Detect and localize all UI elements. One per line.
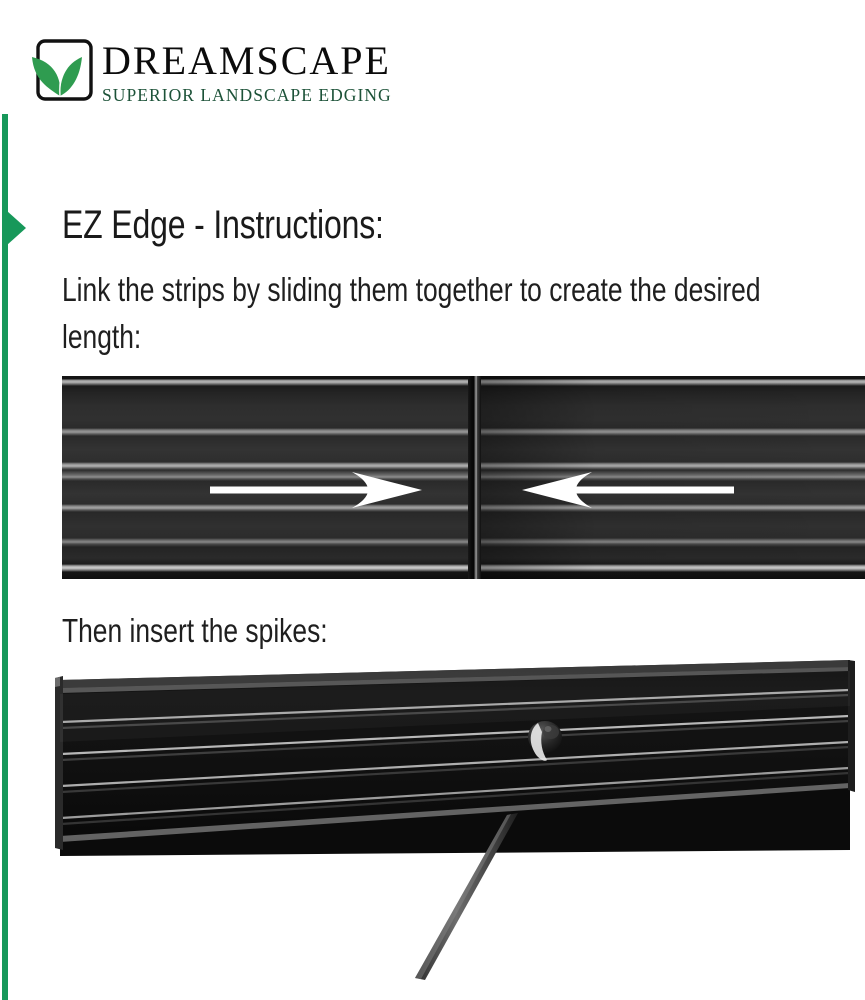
brand-logo: DREAMSCAPE SUPERIOR LANDSCAPE EDGING [30, 38, 450, 114]
spike-head-icon [528, 721, 562, 761]
edging-strip-with-spike-photo [55, 650, 865, 1000]
brand-wordmark: DREAMSCAPE [102, 39, 442, 83]
instruction-sheet: DREAMSCAPE SUPERIOR LANDSCAPE EDGING EZ … [0, 0, 865, 1000]
spike-assembly [55, 650, 865, 1000]
step-two-text: Then insert the spikes: [62, 612, 328, 650]
brand-tagline: SUPERIOR LANDSCAPE EDGING [102, 84, 442, 106]
triangle-right-icon [7, 211, 26, 245]
strip-seam [468, 376, 481, 579]
arrow-right-icon [210, 468, 422, 512]
leaf-in-square-icon [30, 38, 96, 108]
step-one-text: Link the strips by sliding them together… [62, 266, 806, 360]
edging-strips-photo [62, 376, 865, 579]
brand-text: DREAMSCAPE SUPERIOR LANDSCAPE EDGING [102, 39, 442, 106]
page-title: EZ Edge - Instructions: [62, 203, 384, 248]
accent-rail [2, 114, 8, 1000]
arrow-left-icon [512, 468, 734, 512]
